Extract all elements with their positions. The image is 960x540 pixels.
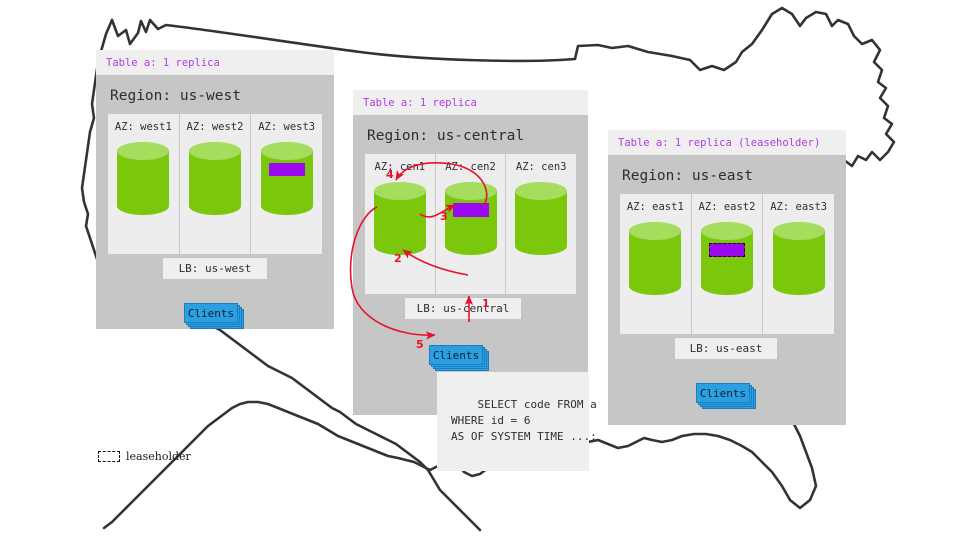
cylinder-bottom: [701, 277, 753, 295]
load-balancer-label: LB: us-west: [179, 262, 252, 275]
step-label-3: 3: [440, 210, 448, 223]
cylinder-bottom: [117, 197, 169, 215]
dashed-rectangle-leaseholder-swatch: [98, 451, 120, 462]
cylinder-bottom: [773, 277, 825, 295]
node-cylinder-east1[interactable]: [629, 222, 681, 294]
load-balancer-us-east[interactable]: LB: us-east: [674, 337, 778, 360]
az-label-west3: AZ: west3: [258, 121, 315, 133]
cylinder-top: [629, 222, 681, 240]
node-cylinder-west2[interactable]: [189, 142, 241, 214]
node-cylinder-cen2[interactable]: [445, 182, 497, 254]
cylinder-top: [261, 142, 313, 160]
clients-button-us-west[interactable]: Clients: [184, 303, 238, 323]
az-row-us-east: AZ: east1 AZ: east2: [620, 194, 834, 334]
az-cell-cen3[interactable]: AZ: cen3: [506, 154, 576, 294]
region-header-us-east: Table a: 1 replica (leaseholder): [608, 130, 846, 155]
load-balancer-label: LB: us-central: [417, 302, 510, 315]
sql-query-text: SELECT code FROM a WHERE id = 6 AS OF SY…: [451, 398, 597, 443]
region-panel-us-east: Table a: 1 replica (leaseholder) Region:…: [608, 130, 846, 425]
cylinder-bottom: [515, 237, 567, 255]
sql-query-box: SELECT code FROM a WHERE id = 6 AS OF SY…: [437, 372, 589, 471]
region-title-us-east: Region: us-east: [622, 168, 834, 184]
clients-label: Clients: [700, 387, 746, 400]
region-header-us-central: Table a: 1 replica: [353, 90, 588, 115]
region-title-us-central: Region: us-central: [367, 128, 576, 144]
node-cylinder-west3[interactable]: [261, 142, 313, 214]
legend-leaseholder: leaseholder: [98, 450, 191, 463]
az-label-cen2: AZ: cen2: [445, 161, 496, 173]
clients-label: Clients: [433, 349, 479, 362]
az-cell-west3[interactable]: AZ: west3: [251, 114, 322, 254]
load-balancer-us-west[interactable]: LB: us-west: [162, 257, 268, 280]
cylinder-bottom: [189, 197, 241, 215]
clients-button-us-east[interactable]: Clients: [696, 383, 750, 403]
cylinder-bottom: [445, 237, 497, 255]
replica-block-west3[interactable]: [269, 163, 305, 176]
az-label-west2: AZ: west2: [187, 121, 244, 133]
clients-stack-us-east[interactable]: Clients: [696, 383, 758, 411]
region-body-us-central: Region: us-central AZ: cen1 AZ: cen2: [353, 115, 588, 415]
cylinder-top: [445, 182, 497, 200]
us-map-texas-gulf-path: [420, 462, 480, 530]
load-balancer-us-central[interactable]: LB: us-central: [404, 297, 522, 320]
clients-label: Clients: [188, 307, 234, 320]
cylinder-top: [515, 182, 567, 200]
az-cell-east2[interactable]: AZ: east2: [692, 194, 764, 334]
az-label-cen1: AZ: cen1: [375, 161, 426, 173]
region-panel-us-west: Table a: 1 replica Region: us-west AZ: w…: [96, 50, 334, 329]
az-label-east2: AZ: east2: [699, 201, 756, 213]
region-title-us-west: Region: us-west: [110, 88, 322, 104]
az-label-east3: AZ: east3: [770, 201, 827, 213]
clients-stack-us-central[interactable]: Clients: [429, 345, 491, 373]
az-cell-cen2[interactable]: AZ: cen2: [436, 154, 507, 294]
cylinder-top: [189, 142, 241, 160]
step-label-4: 4: [386, 168, 394, 181]
az-label-west1: AZ: west1: [115, 121, 172, 133]
clients-button-us-central[interactable]: Clients: [429, 345, 483, 365]
node-cylinder-east3[interactable]: [773, 222, 825, 294]
cylinder-top: [701, 222, 753, 240]
node-cylinder-cen3[interactable]: [515, 182, 567, 254]
az-cell-west1[interactable]: AZ: west1: [108, 114, 180, 254]
step-label-5: 5: [416, 338, 424, 351]
replica-block-east2-leaseholder[interactable]: [709, 243, 745, 257]
node-cylinder-east2[interactable]: [701, 222, 753, 294]
az-cell-east1[interactable]: AZ: east1: [620, 194, 692, 334]
clients-stack-us-west[interactable]: Clients: [184, 303, 246, 331]
replica-block-cen2[interactable]: [453, 203, 489, 217]
cylinder-top: [773, 222, 825, 240]
node-cylinder-west1[interactable]: [117, 142, 169, 214]
az-label-east1: AZ: east1: [627, 201, 684, 213]
cylinder-top: [374, 182, 426, 200]
step-label-2: 2: [394, 252, 402, 265]
az-cell-east3[interactable]: AZ: east3: [763, 194, 834, 334]
az-row-us-central: AZ: cen1 AZ: cen2: [365, 154, 576, 294]
az-cell-west2[interactable]: AZ: west2: [180, 114, 252, 254]
cylinder-bottom: [629, 277, 681, 295]
step-label-1: 1: [482, 297, 490, 310]
az-label-cen3: AZ: cen3: [516, 161, 567, 173]
node-cylinder-cen1[interactable]: [374, 182, 426, 254]
region-panel-us-central: Table a: 1 replica Region: us-central AZ…: [353, 90, 588, 415]
region-body-us-west: Region: us-west AZ: west1 AZ: west2: [96, 75, 334, 329]
diagram-canvas: Table a: 1 replica Region: us-west AZ: w…: [0, 0, 960, 540]
az-cell-cen1[interactable]: AZ: cen1: [365, 154, 436, 294]
legend-label: leaseholder: [126, 450, 191, 463]
cylinder-bottom: [261, 197, 313, 215]
cylinder-top: [117, 142, 169, 160]
region-header-us-west: Table a: 1 replica: [96, 50, 334, 75]
region-body-us-east: Region: us-east AZ: east1 AZ: east2: [608, 155, 846, 425]
az-row-us-west: AZ: west1 AZ: west2 AZ: [108, 114, 322, 254]
load-balancer-label: LB: us-east: [690, 342, 763, 355]
